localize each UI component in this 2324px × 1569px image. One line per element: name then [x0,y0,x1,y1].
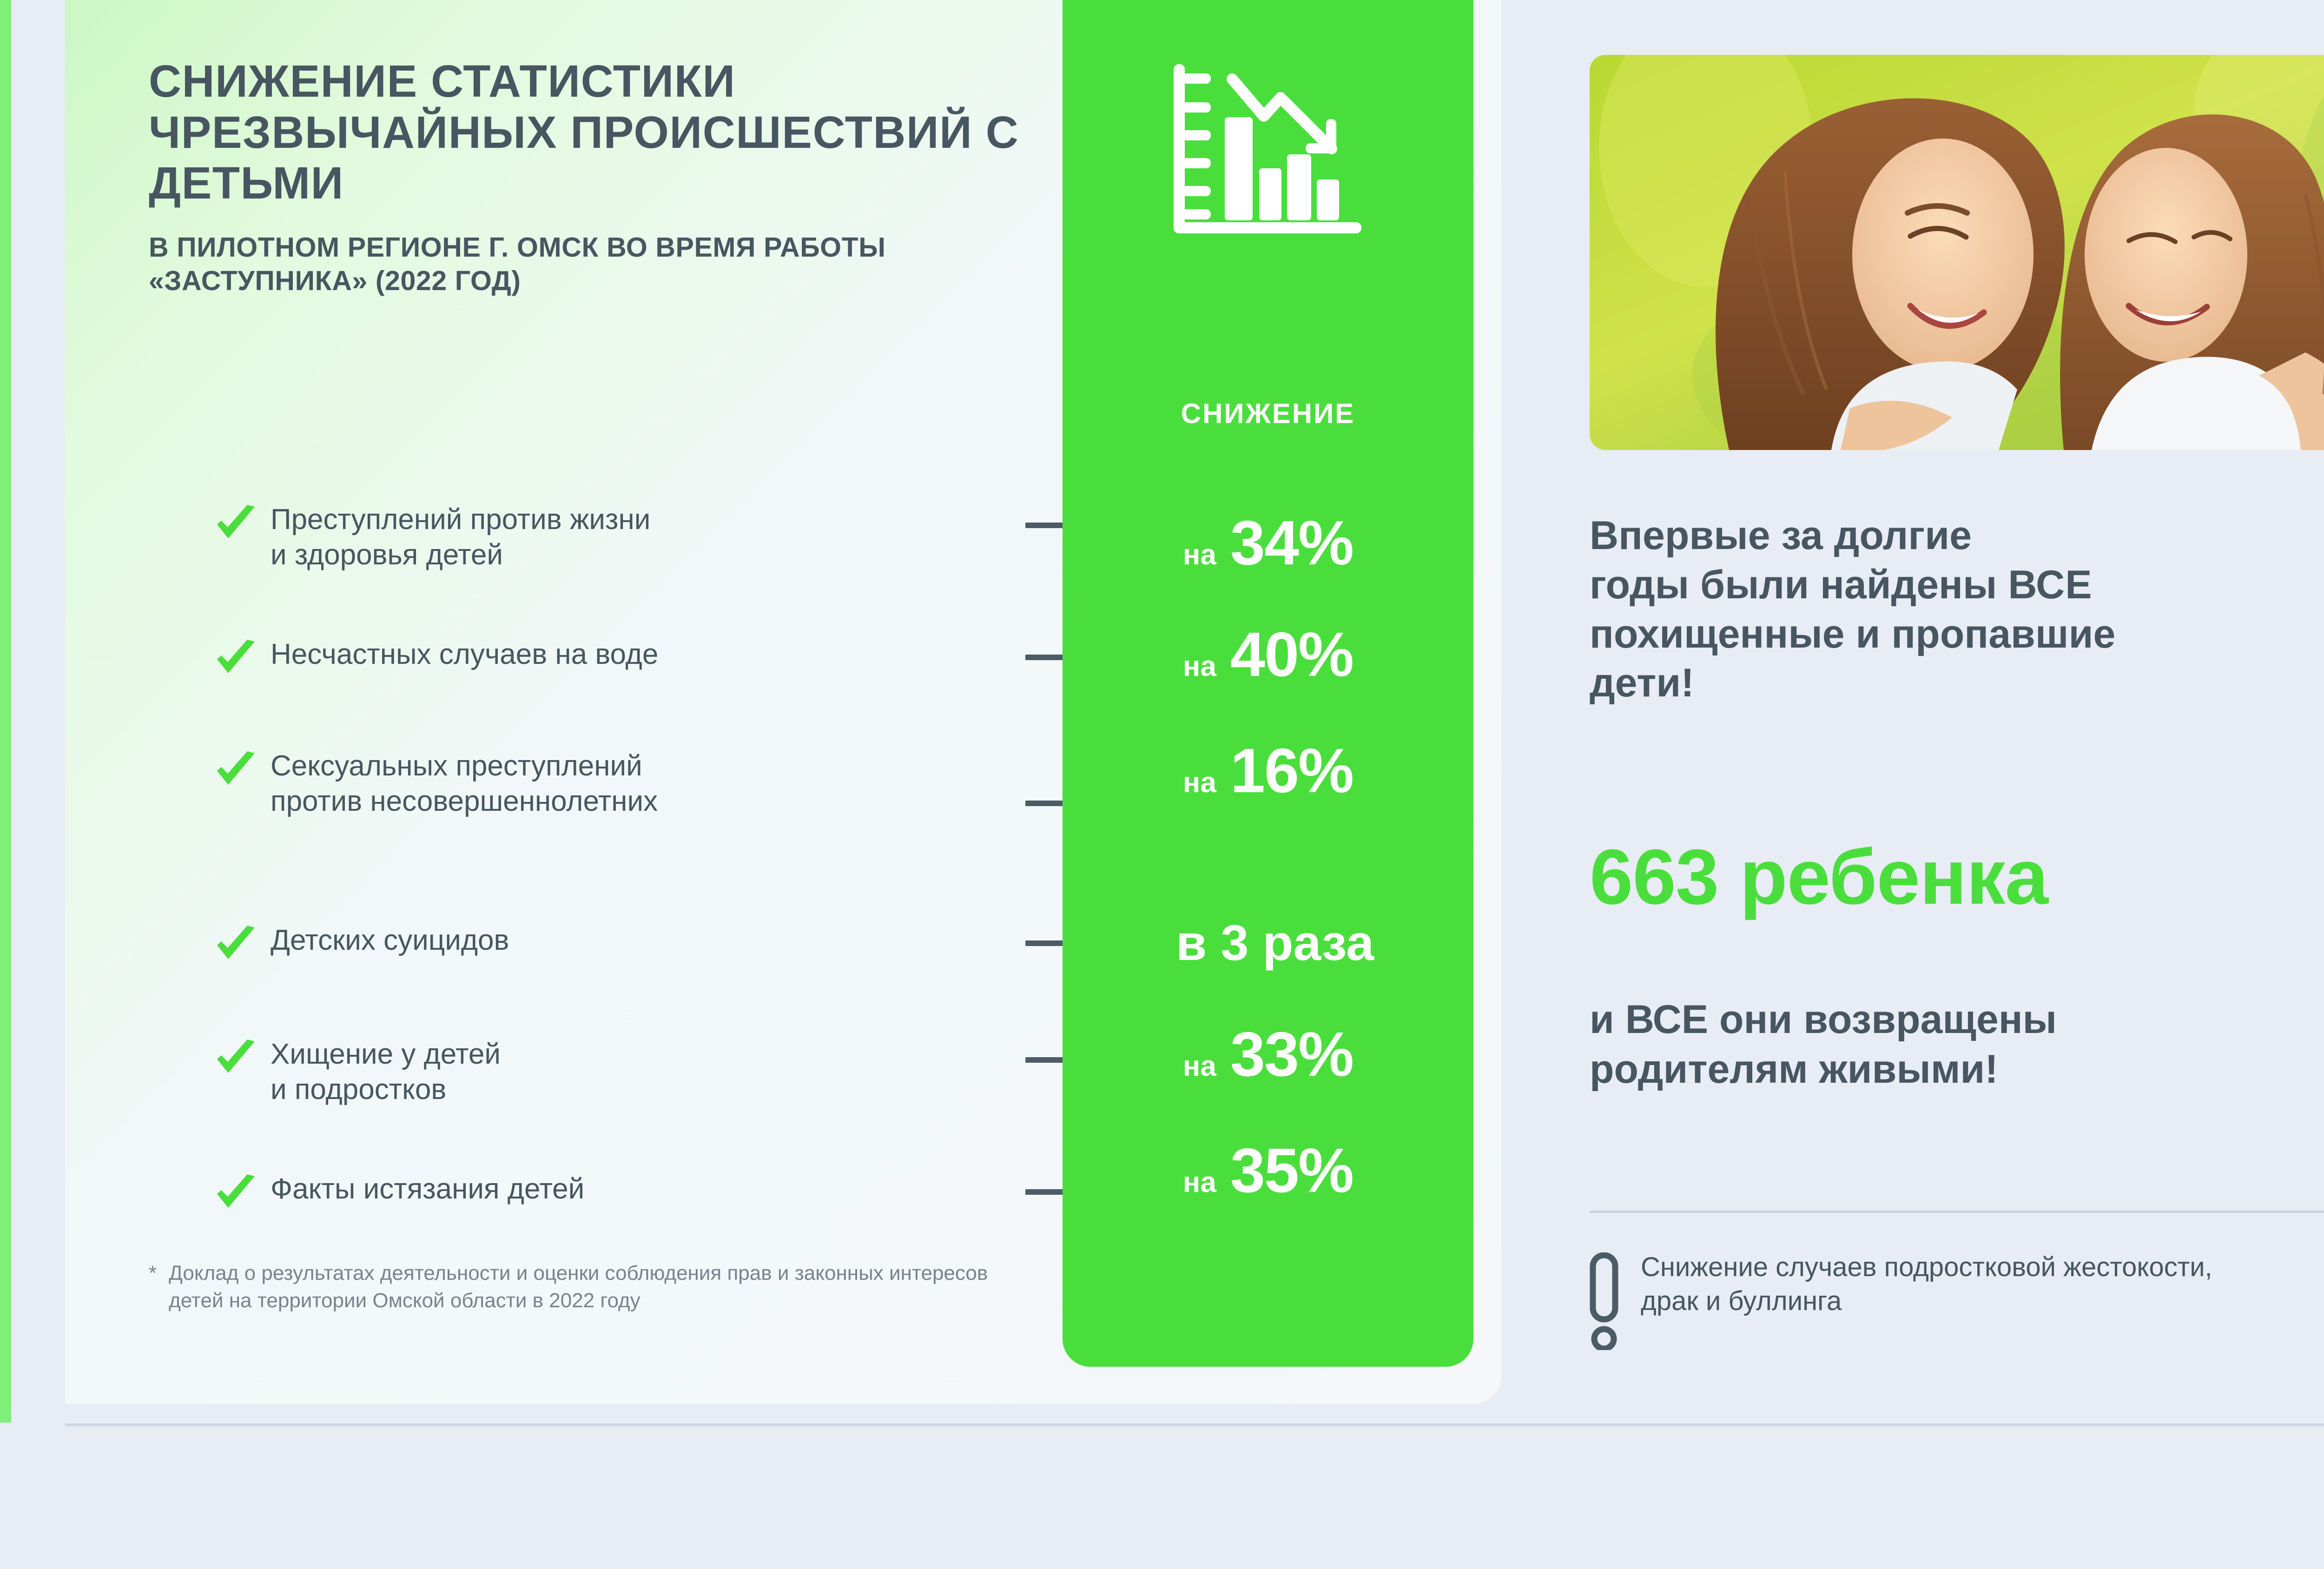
check-icon [214,1039,258,1079]
mother-and-daughter-photo [1590,55,2324,450]
check-icon [214,504,258,544]
footnote-text: Доклад о результатах деятельности и оцен… [169,1260,1013,1315]
closing-prefix: и [1590,997,1625,1042]
stat-row: на 35% [1063,1134,1473,1206]
footer-rule [65,1423,2324,1426]
list-item: Несчастных случаев на воде [214,637,1111,677]
reduction-stats-panel: СНИЖЕНИЕ на 34% на 40% на 16% в 3 раза н… [1063,0,1473,1367]
list-item: Факты истязания детей [214,1172,1111,1212]
stat-value: в 3 раза [1176,914,1374,972]
stat-value: 35% [1230,1134,1353,1206]
stat-row: на 34% [1063,507,1473,579]
stat-row: на 16% [1063,735,1473,807]
closing-emphasis: ВСЕ [1625,997,1708,1042]
stat-row: на 33% [1063,1018,1473,1090]
list-item-label: Сексуальных преступлений против несоверш… [271,748,658,820]
list-item: Сексуальных преступлений против несоверш… [214,748,1111,820]
check-icon [214,925,258,965]
list-item: Преступлений против жизни и здоровья дет… [214,502,1111,573]
lede-line-2: годы были найдены [1590,563,2008,607]
list-item-label: Преступлений против жизни и здоровья дет… [271,502,650,573]
additional-note: Снижение случаев подростковой жестокости… [1590,1251,2324,1351]
stat-prefix: на [1183,1050,1216,1083]
check-icon [214,1173,258,1213]
panel-heading: СНИЖЕНИЕ [1063,397,1473,430]
page-title: СНИЖЕНИЕ СТАТИСТИКИ ЧРЕЗВЫЧАЙНЫХ ПРОИСШЕ… [149,56,1106,209]
card-heading-block: СНИЖЕНИЕ СТАТИСТИКИ ЧРЕЗВЫЧАЙНЫХ ПРОИСШЕ… [149,56,1106,298]
stat-value: 16% [1230,735,1353,807]
check-icon [214,639,258,679]
stat-prefix: на [1183,766,1216,799]
left-edge-accent-bar [0,0,11,1423]
page-subtitle: В ПИЛОТНОМ РЕГИОНЕ Г. ОМСК ВО ВРЕМЯ РАБО… [149,231,1106,298]
list-item-label: Детских суицидов [271,923,509,958]
stat-value: 34% [1230,507,1353,579]
stat-row: в 3 раза [1063,914,1473,972]
closing-end: родителям живыми! [1590,1047,1998,1092]
list-item: Детских суицидов [214,923,1111,963]
exclamation-mark-icon [1590,1252,1623,1352]
lede-emphasis: ВСЕ [2008,563,2092,607]
stat-value: 40% [1230,618,1353,690]
lede-paragraph: Впервые за долгие годы были найдены ВСЕ … [1590,511,2324,708]
children-found-count: 663 ребенка [1590,832,2048,922]
stat-value: 33% [1230,1018,1353,1090]
stat-prefix: на [1183,650,1216,683]
closing-mid: они возвращены [1708,997,2057,1042]
list-item-label: Факты истязания детей [271,1172,584,1207]
check-icon [214,750,258,790]
lede-line-3: похищенные и пропавшие [1590,612,2115,656]
closing-paragraph: и ВСЕ они возвращены родителям живыми! [1590,995,2324,1094]
list-item-label: Хищение у детей и подростков [271,1037,501,1108]
additional-note-text: Снижение случаев подростковой жестокости… [1641,1251,2212,1318]
list-item-label: Несчастных случаев на воде [271,637,658,672]
lede-line-1: Впервые за долгие [1590,513,1972,558]
stat-prefix: на [1183,538,1216,571]
footnote: * Доклад о результатах деятельности и оц… [149,1260,1013,1315]
stat-row: на 40% [1063,618,1473,690]
list-item: Хищение у детей и подростков [214,1037,1111,1108]
footnote-marker: * [149,1260,157,1286]
divider [1590,1211,2324,1213]
declining-bar-chart-icon [1168,60,1368,258]
lede-line-4: дети! [1590,661,1694,705]
stat-prefix: на [1183,1166,1216,1199]
